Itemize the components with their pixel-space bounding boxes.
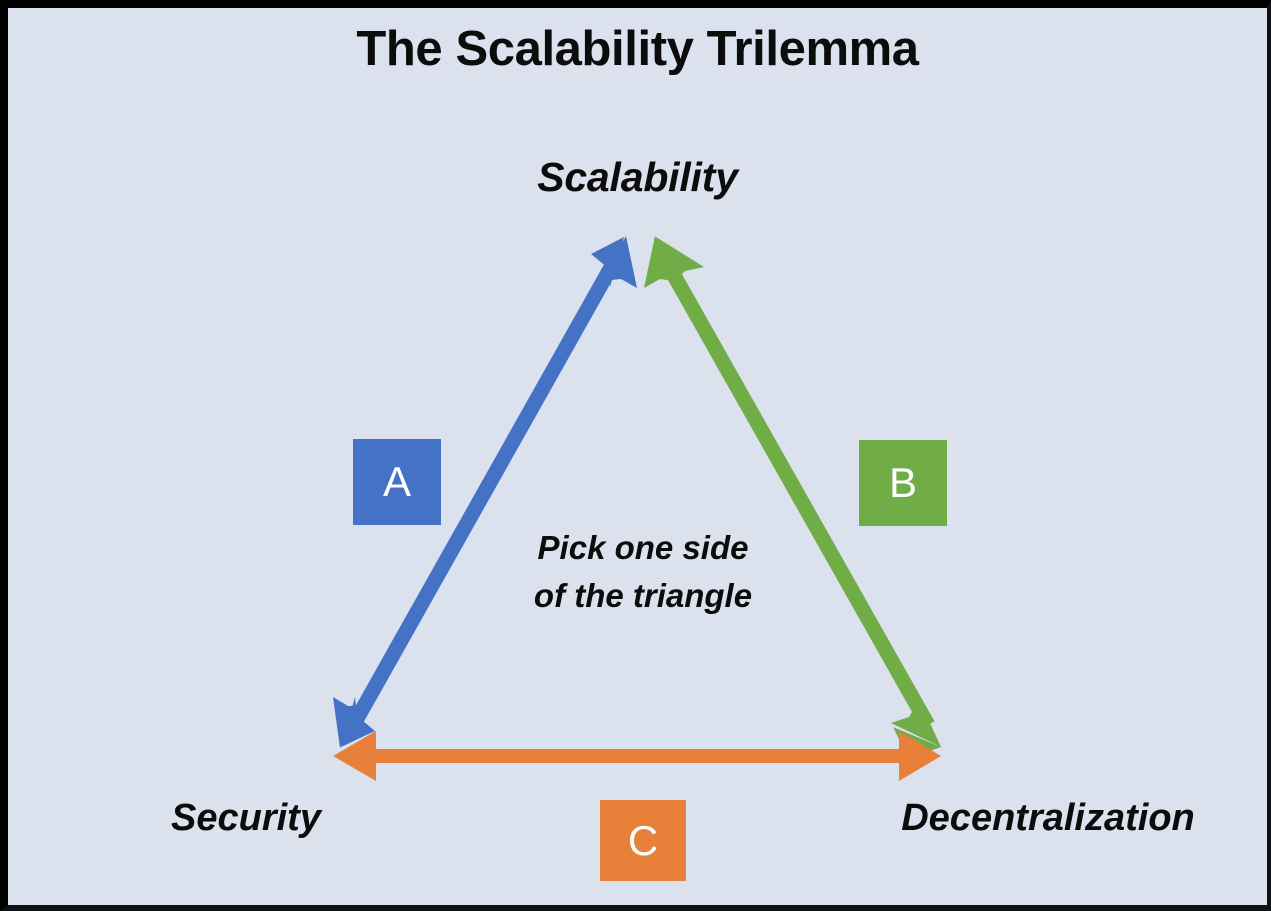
side-label-c-text: C xyxy=(628,817,658,865)
side-label-box-b: B xyxy=(859,440,947,526)
vertex-label-scalability: Scalability xyxy=(8,156,1267,199)
side-label-box-c: C xyxy=(600,800,686,881)
side-label-box-a: A xyxy=(353,439,441,525)
arrow-c-orange xyxy=(333,731,941,781)
page-title: The Scalability Trilemma xyxy=(8,24,1267,75)
diagram-canvas: The Scalability Trilemma Scalability Sec… xyxy=(0,0,1271,911)
side-label-a-text: A xyxy=(383,458,411,506)
side-label-b-text: B xyxy=(889,459,917,507)
trilemma-arrows xyxy=(0,0,1271,911)
vertex-label-decentralization: Decentralization xyxy=(848,799,1248,839)
center-instruction-text: Pick one side of the triangle xyxy=(448,524,838,620)
vertex-label-security: Security xyxy=(136,799,356,839)
